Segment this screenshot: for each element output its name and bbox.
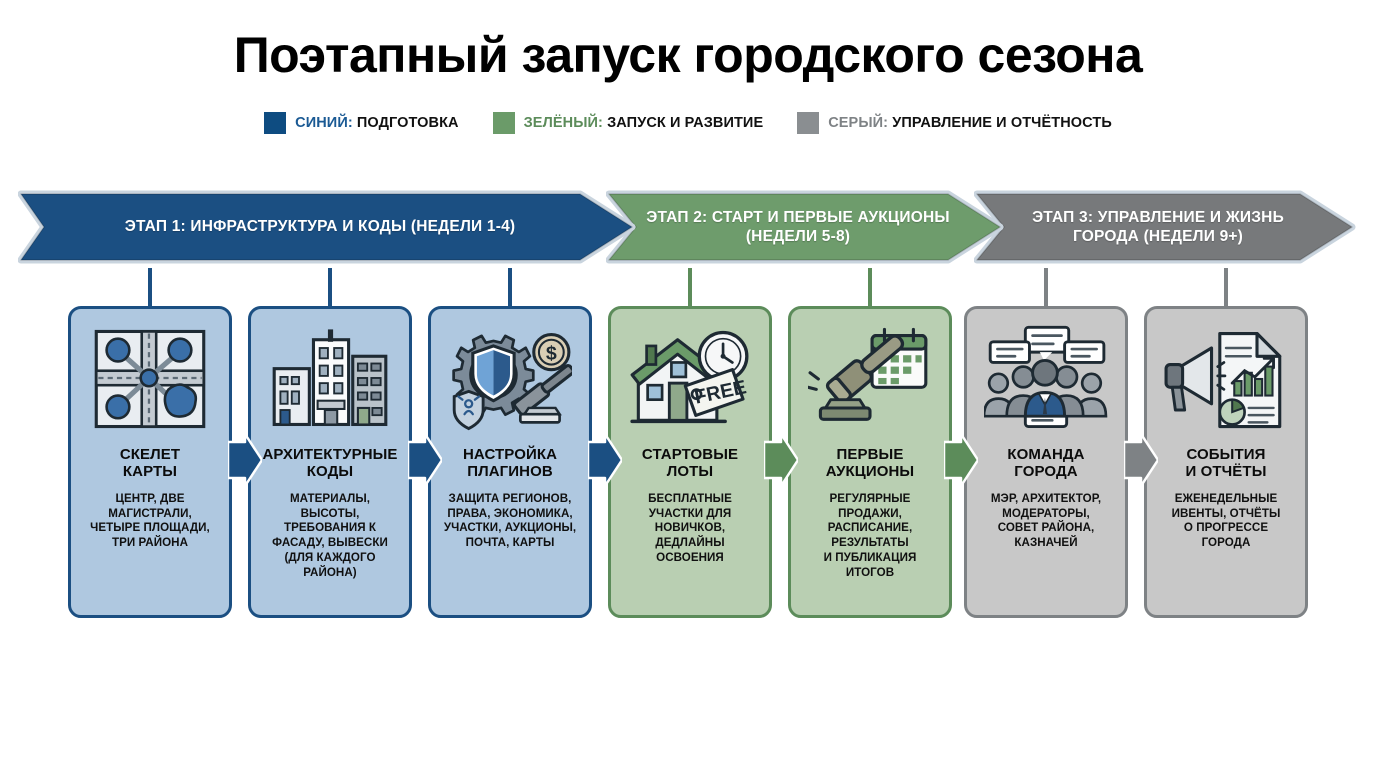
card-city-team-title: КОМАНДА ГОРОДА xyxy=(1007,446,1084,481)
phase-1-label: ЭТАП 1: ИНФРАСТРУКТУРА И КОДЫ (НЕДЕЛИ 1-… xyxy=(95,217,562,236)
card-plugin-setup[interactable]: $ НАСТРОЙКА ПЛАГИНОВЗАЩИТА РЕГИОНОВ, ПРА… xyxy=(428,306,592,618)
infographic-root: Поэтапный запуск городского сезона СИНИЙ… xyxy=(0,0,1376,768)
legend-item-2: ЗЕЛЁНЫЙ: ЗАПУСК И РАЗВИТИЕ xyxy=(493,112,764,134)
card-map-skeleton[interactable]: СКЕЛЕТ КАРТЫЦЕНТР, ДВЕ МАГИСТРАЛИ, ЧЕТЫР… xyxy=(68,306,232,618)
card-starter-lots[interactable]: FREE СТАРТОВЫЕ ЛОТЫБЕСПЛАТНЫЕ УЧАСТКИ ДЛ… xyxy=(608,306,772,618)
legend: СИНИЙ: ПОДГОТОВКАЗЕЛЁНЫЙ: ЗАПУСК И РАЗВИ… xyxy=(0,112,1376,134)
phase-arrow-band: ЭТАП 1: ИНФРАСТРУКТУРА И КОДЫ (НЕДЕЛИ 1-… xyxy=(18,172,1358,282)
card-city-team[interactable]: КОМАНДА ГОРОДАМЭР, АРХИТЕКТОР, МОДЕРАТОР… xyxy=(964,306,1128,618)
connector-5-arrow-icon xyxy=(944,432,978,488)
house-clock-free-icon: FREE xyxy=(628,323,752,435)
legend-item-1: СИНИЙ: ПОДГОТОВКА xyxy=(264,112,458,134)
legend-label: СИНИЙ: ПОДГОТОВКА xyxy=(295,115,458,131)
card-first-auctions-description: РЕГУЛЯРНЫЕ ПРОДАЖИ, РАСПИСАНИЕ, РЕЗУЛЬТА… xyxy=(824,492,917,581)
card-events-reports-description: ЕЖЕНЕДЕЛЬНЫЕ ИВЕНТЫ, ОТЧЁТЫ О ПРОГРЕССЕ … xyxy=(1172,492,1281,551)
card-city-team-description: МЭР, АРХИТЕКТОР, МОДЕРАТОРЫ, СОВЕТ РАЙОН… xyxy=(991,492,1101,551)
card-plugin-setup-description: ЗАЩИТА РЕГИОНОВ, ПРАВА, ЭКОНОМИКА, УЧАСТ… xyxy=(444,492,576,551)
phase-1-arrow: ЭТАП 1: ИНФРАСТРУКТУРА И КОДЫ (НЕДЕЛИ 1-… xyxy=(18,172,638,282)
phase-3-arrow: ЭТАП 3: УПРАВЛЕНИЕ И ЖИЗНЬ ГОРОДА (НЕДЕЛ… xyxy=(974,172,1358,282)
card-starter-lots-title: СТАРТОВЫЕ ЛОТЫ xyxy=(642,446,738,481)
connector-4-arrow-icon xyxy=(764,432,798,488)
legend-label: ЗЕЛЁНЫЙ: ЗАПУСК И РАЗВИТИЕ xyxy=(524,115,764,131)
legend-item-3: СЕРЫЙ: УПРАВЛЕНИЕ И ОТЧЁТНОСТЬ xyxy=(797,112,1112,134)
card-architecture-codes-title: АРХИТЕКТУРНЫЕ КОДЫ xyxy=(262,446,397,481)
map-skeleton-icon xyxy=(88,323,212,435)
card-map-skeleton-description: ЦЕНТР, ДВЕ МАГИСТРАЛИ, ЧЕТЫРЕ ПЛОЩАДИ, Т… xyxy=(90,492,210,551)
phase-3-label: ЭТАП 3: УПРАВЛЕНИЕ И ЖИЗНЬ ГОРОДА (НЕДЕЛ… xyxy=(974,208,1358,247)
phase-2-arrow: ЭТАП 2: СТАРТ И ПЕРВЫЕ АУКЦИОНЫ (НЕДЕЛИ … xyxy=(606,172,1006,282)
card-architecture-codes-description: МАТЕРИАЛЫ, ВЫСОТЫ, ТРЕБОВАНИЯ К ФАСАДУ, … xyxy=(272,492,388,581)
card-first-auctions[interactable]: ПЕРВЫЕ АУКЦИОНЫРЕГУЛЯРНЫЕ ПРОДАЖИ, РАСПИ… xyxy=(788,306,952,618)
connector-1-arrow-icon xyxy=(228,432,262,488)
card-starter-lots-description: БЕСПЛАТНЫЕ УЧАСТКИ ДЛЯ НОВИЧКОВ, ДЕДЛАЙН… xyxy=(648,492,732,566)
legend-swatch xyxy=(797,112,819,134)
card-plugin-setup-title: НАСТРОЙКА ПЛАГИНОВ xyxy=(463,446,557,481)
card-architecture-codes[interactable]: АРХИТЕКТУРНЫЕ КОДЫМАТЕРИАЛЫ, ВЫСОТЫ, ТРЕ… xyxy=(248,306,412,618)
connector-3-arrow-icon xyxy=(588,432,622,488)
connector-6-arrow-icon xyxy=(1124,432,1158,488)
card-events-reports[interactable]: СОБЫТИЯ И ОТЧЁТЫЕЖЕНЕДЕЛЬНЫЕ ИВЕНТЫ, ОТЧ… xyxy=(1144,306,1308,618)
legend-swatch xyxy=(264,112,286,134)
svg-text:$: $ xyxy=(546,342,557,364)
gear-shield-gavel-icon: $ xyxy=(448,323,572,435)
card-events-reports-title: СОБЫТИЯ И ОТЧЁТЫ xyxy=(1185,446,1266,481)
legend-swatch xyxy=(493,112,515,134)
page-title: Поэтапный запуск городского сезона xyxy=(0,26,1376,84)
legend-label: СЕРЫЙ: УПРАВЛЕНИЕ И ОТЧЁТНОСТЬ xyxy=(828,115,1112,131)
card-first-auctions-title: ПЕРВЫЕ АУКЦИОНЫ xyxy=(826,446,914,481)
gavel-calendar-icon xyxy=(808,323,932,435)
connector-2-arrow-icon xyxy=(408,432,442,488)
team-speech-icon xyxy=(984,323,1108,435)
buildings-icon xyxy=(268,323,392,435)
card-map-skeleton-title: СКЕЛЕТ КАРТЫ xyxy=(120,446,180,481)
megaphone-report-icon xyxy=(1164,323,1288,435)
phase-2-label: ЭТАП 2: СТАРТ И ПЕРВЫЕ АУКЦИОНЫ (НЕДЕЛИ … xyxy=(606,208,1006,247)
